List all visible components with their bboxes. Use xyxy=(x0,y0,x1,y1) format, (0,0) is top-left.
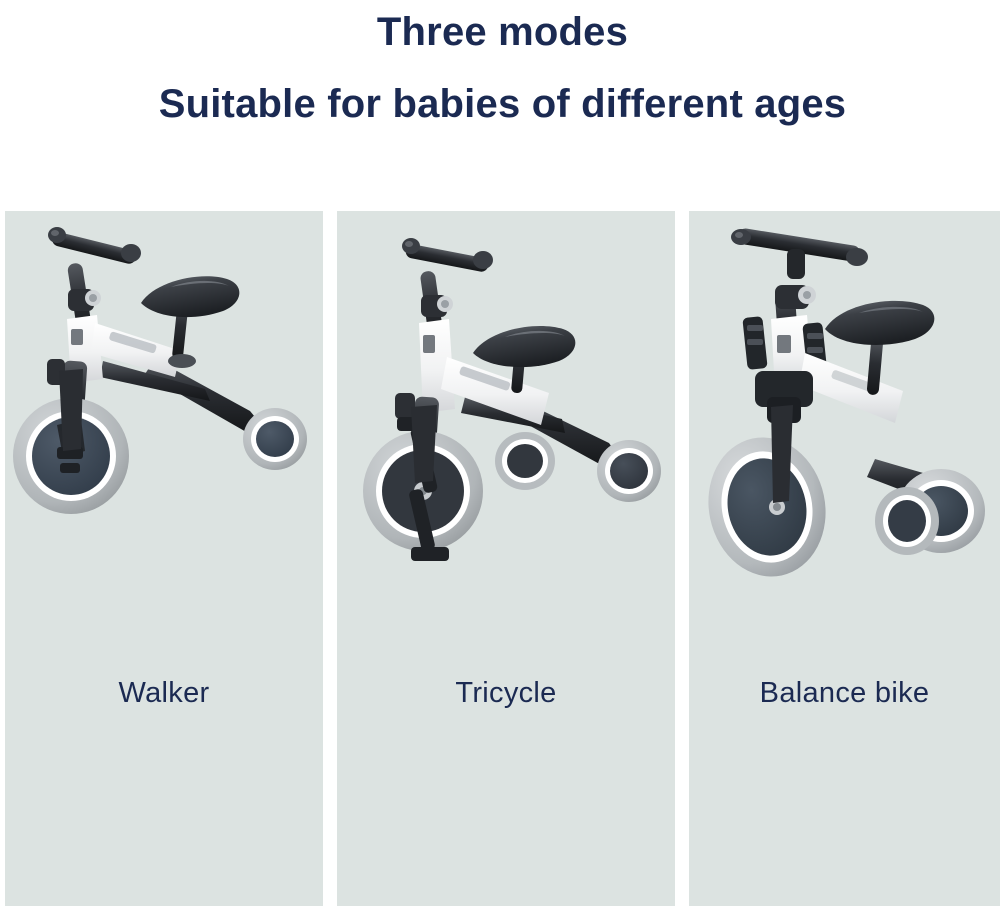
stem-clamp xyxy=(775,285,816,309)
balance-bike-illustration xyxy=(689,211,1000,691)
mode-panel-balance-bike: Balance bike xyxy=(689,211,1000,906)
stem-clamp xyxy=(421,295,453,317)
mode-panel-walker: Walker xyxy=(5,211,323,906)
handlebar xyxy=(731,227,868,279)
saddle xyxy=(141,276,239,317)
folded-rear-wheel xyxy=(495,432,555,490)
saddle xyxy=(473,326,575,367)
top-frame-bar xyxy=(799,353,903,423)
folded-rear-wheel xyxy=(875,487,939,555)
headline-primary: Three modes xyxy=(0,8,1005,56)
rear-wheel xyxy=(597,440,661,502)
front-wheel xyxy=(696,426,839,587)
saddle xyxy=(825,301,934,345)
fork-leg xyxy=(59,369,83,451)
seat-clamp xyxy=(168,354,196,368)
head-tube-decal xyxy=(777,335,791,353)
tricycle-illustration xyxy=(337,211,675,691)
panel-label-balance-bike: Balance bike xyxy=(689,677,1000,710)
mode-panel-strip: Walker xyxy=(0,211,1005,906)
panel-label-walker: Walker xyxy=(5,677,323,710)
mode-panel-tricycle: Tricycle xyxy=(337,211,675,906)
promo-image: Three modes Suitable for babies of diffe… xyxy=(0,0,1005,916)
walker-illustration xyxy=(5,211,323,691)
stem-clamp xyxy=(68,289,101,311)
fork-leg xyxy=(411,405,437,483)
head-tube-decal xyxy=(71,329,83,345)
handlebar xyxy=(48,227,141,265)
header-block: Three modes Suitable for babies of diffe… xyxy=(0,0,1005,205)
folded-footrest-left xyxy=(742,316,767,370)
head-tube-decal xyxy=(423,335,435,353)
headline-secondary: Suitable for babies of different ages xyxy=(0,80,1005,128)
handlebar xyxy=(402,238,493,273)
panel-label-tricycle: Tricycle xyxy=(337,677,675,710)
rear-wheel xyxy=(243,408,307,470)
